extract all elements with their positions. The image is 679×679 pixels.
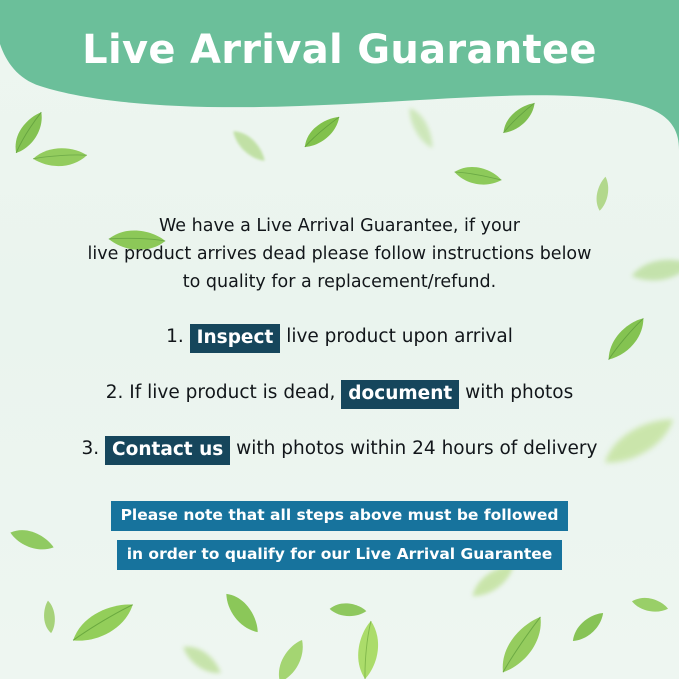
step-text-after: with photos xyxy=(465,382,573,403)
step-highlight-document: document xyxy=(341,380,459,409)
step-item-2: 2. If live product is dead, document wit… xyxy=(0,376,679,432)
note-bar-line-2: in order to qualify for our Live Arrival… xyxy=(117,540,563,570)
footer-notes: Please note that all steps above must be… xyxy=(0,501,679,570)
steps-list: 1. Inspect live product upon arrival 2. … xyxy=(0,320,679,488)
step-highlight-inspect: Inspect xyxy=(190,324,281,353)
step-text-before: If live product is dead, xyxy=(129,382,335,403)
note-row-1: Please note that all steps above must be… xyxy=(0,501,679,531)
step-item-3: 3. Contact us with photos within 24 hour… xyxy=(0,432,679,488)
step-number: 2. xyxy=(106,382,124,403)
step-text-after: live product upon arrival xyxy=(286,326,513,347)
note-bar-line-1: Please note that all steps above must be… xyxy=(111,501,569,531)
intro-line-2: live product arrives dead please follow … xyxy=(50,240,629,268)
intro-paragraph: We have a Live Arrival Guarantee, if you… xyxy=(50,212,629,296)
step-highlight-contact-us: Contact us xyxy=(105,436,230,465)
poster-content: We have a Live Arrival Guarantee, if you… xyxy=(0,0,679,679)
step-number: 3. xyxy=(82,438,100,459)
page-title: Live Arrival Guarantee xyxy=(0,28,679,72)
step-text-after: with photos within 24 hours of delivery xyxy=(236,438,597,459)
step-number: 1. xyxy=(166,326,184,347)
live-arrival-guarantee-poster: Live Arrival Guarantee xyxy=(0,0,679,679)
intro-line-1: We have a Live Arrival Guarantee, if you… xyxy=(50,212,629,240)
note-row-2: in order to qualify for our Live Arrival… xyxy=(0,540,679,570)
step-item-1: 1. Inspect live product upon arrival xyxy=(0,320,679,376)
intro-line-3: to quality for a replacement/refund. xyxy=(50,268,629,296)
